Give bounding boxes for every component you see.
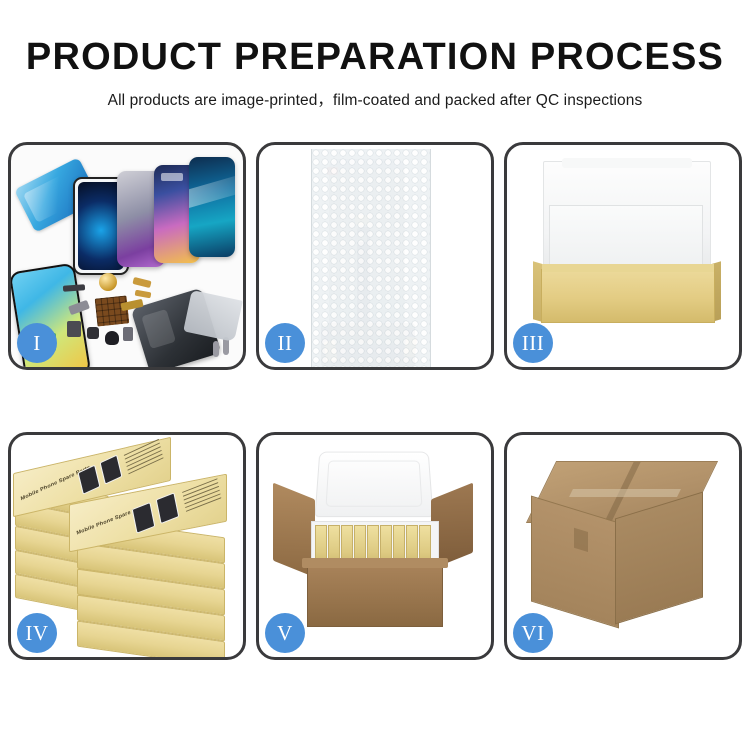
step-badge-5: V <box>265 613 305 653</box>
step-badge-4: IV <box>17 613 57 653</box>
box-print-screen-icon <box>156 492 180 524</box>
header: PRODUCT PREPARATION PROCESS All products… <box>0 0 750 110</box>
spare-part-icon <box>87 327 99 339</box>
spare-part-icon <box>123 327 133 341</box>
spare-part-icon <box>105 331 119 345</box>
vibration-motor-icon <box>99 273 117 291</box>
step-badge-2: II <box>265 323 305 363</box>
step-panel-1: I <box>8 142 246 370</box>
spare-part-icon <box>67 321 81 337</box>
spare-part-icon <box>135 290 152 299</box>
step-badge-3: III <box>513 323 553 363</box>
packing-tape-icon <box>569 489 681 497</box>
page-title: PRODUCT PREPARATION PROCESS <box>0 0 750 79</box>
chip-grid-icon <box>95 295 130 326</box>
screw-icon <box>213 341 219 357</box>
spare-part-icon <box>132 277 151 288</box>
step-badge-6: VI <box>513 613 553 653</box>
box-print-spec-lines <box>182 478 222 514</box>
carton-front-icon <box>307 563 443 627</box>
step-panel-6: VI <box>504 432 742 660</box>
bubble-wrap-bag-icon <box>311 149 431 367</box>
page-subtitle: All products are image-printed，film-coat… <box>0 79 750 110</box>
foam-lid-icon <box>314 452 433 517</box>
step-panel-5: V <box>256 432 494 660</box>
gold-box-front-icon <box>541 269 715 323</box>
process-step-grid: I II III <box>8 142 742 682</box>
spare-part-icon <box>63 284 85 292</box>
step-badge-1: I <box>17 323 57 363</box>
box-print-screen-icon <box>100 454 123 484</box>
step-panel-4: Mobile Phone Spare Parts Mobile Phone Sp… <box>8 432 246 660</box>
step-panel-3: III <box>504 142 742 370</box>
step-panel-2: II <box>256 142 494 370</box>
box-print-screen-icon <box>132 502 156 534</box>
phone-display-teal-icon <box>189 157 235 257</box>
box-print-spec-lines <box>124 439 164 477</box>
